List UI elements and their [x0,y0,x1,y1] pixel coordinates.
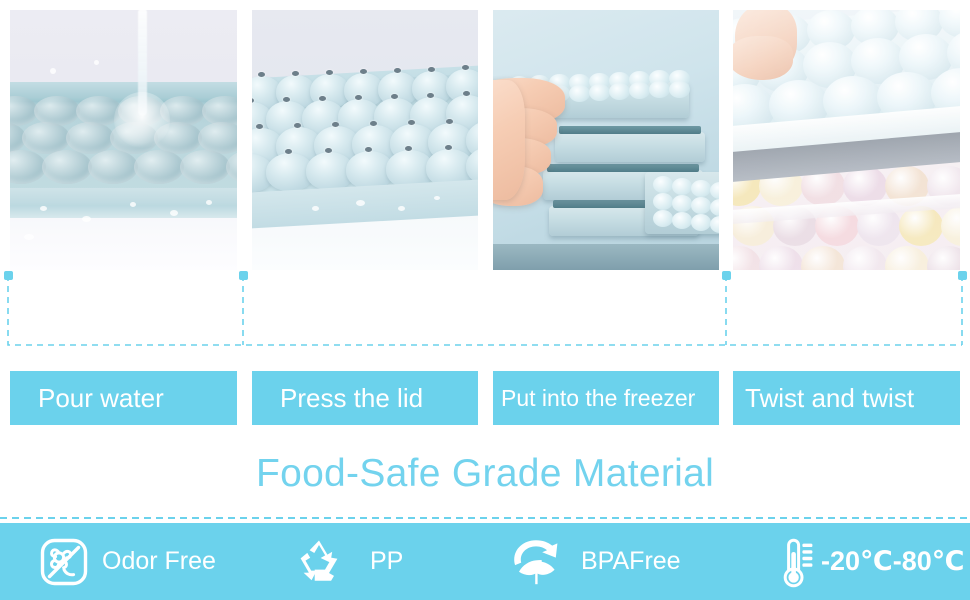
step-label-2-text: Press the lid [280,383,478,414]
thermometer-icon [775,534,823,590]
pressing-lid-on-tray-photo [252,10,478,270]
headline: Food-Safe Grade Material [0,452,970,496]
feature-bar: Odor Free PP BP [0,523,970,600]
feature-odor-free-label: Odor Free [102,547,216,576]
step-label-3: Put into the freezer [493,371,719,425]
feature-temperature: -20℃-80℃ [775,523,964,600]
step-label-1: Pour water [10,371,237,425]
step-label-2: Press the lid [252,371,478,425]
feature-bpa-free-label: BPAFree [581,547,681,576]
stacking-trays-in-freezer-photo [493,10,719,270]
feature-odor-free: Odor Free [38,523,216,600]
step-label-1-text: Pour water [38,383,237,414]
odor-free-icon [38,536,90,588]
twisting-tray-to-release-ice-photo [733,10,960,270]
step-label-3-text: Put into the freezer [501,385,719,412]
feature-temperature-label: -20℃-80℃ [821,546,964,577]
feature-bpa-free: BPAFree [505,523,681,600]
step-image-1 [10,10,237,270]
bpa-free-leaf-icon [505,536,567,588]
step-label-4: Twist and twist [733,371,960,425]
step-image-2 [252,10,478,270]
feature-bar-divider [0,517,970,519]
feature-pp-label: PP [370,547,403,576]
step-image-3 [493,10,719,270]
step-image-4 [733,10,960,270]
recycle-icon [292,537,346,587]
pouring-water-into-ice-tray-photo [10,10,237,270]
infographic-canvas: Pour water Press the lid Put into the fr… [0,0,970,600]
feature-pp: PP [292,523,403,600]
step-label-4-text: Twist and twist [745,383,960,414]
